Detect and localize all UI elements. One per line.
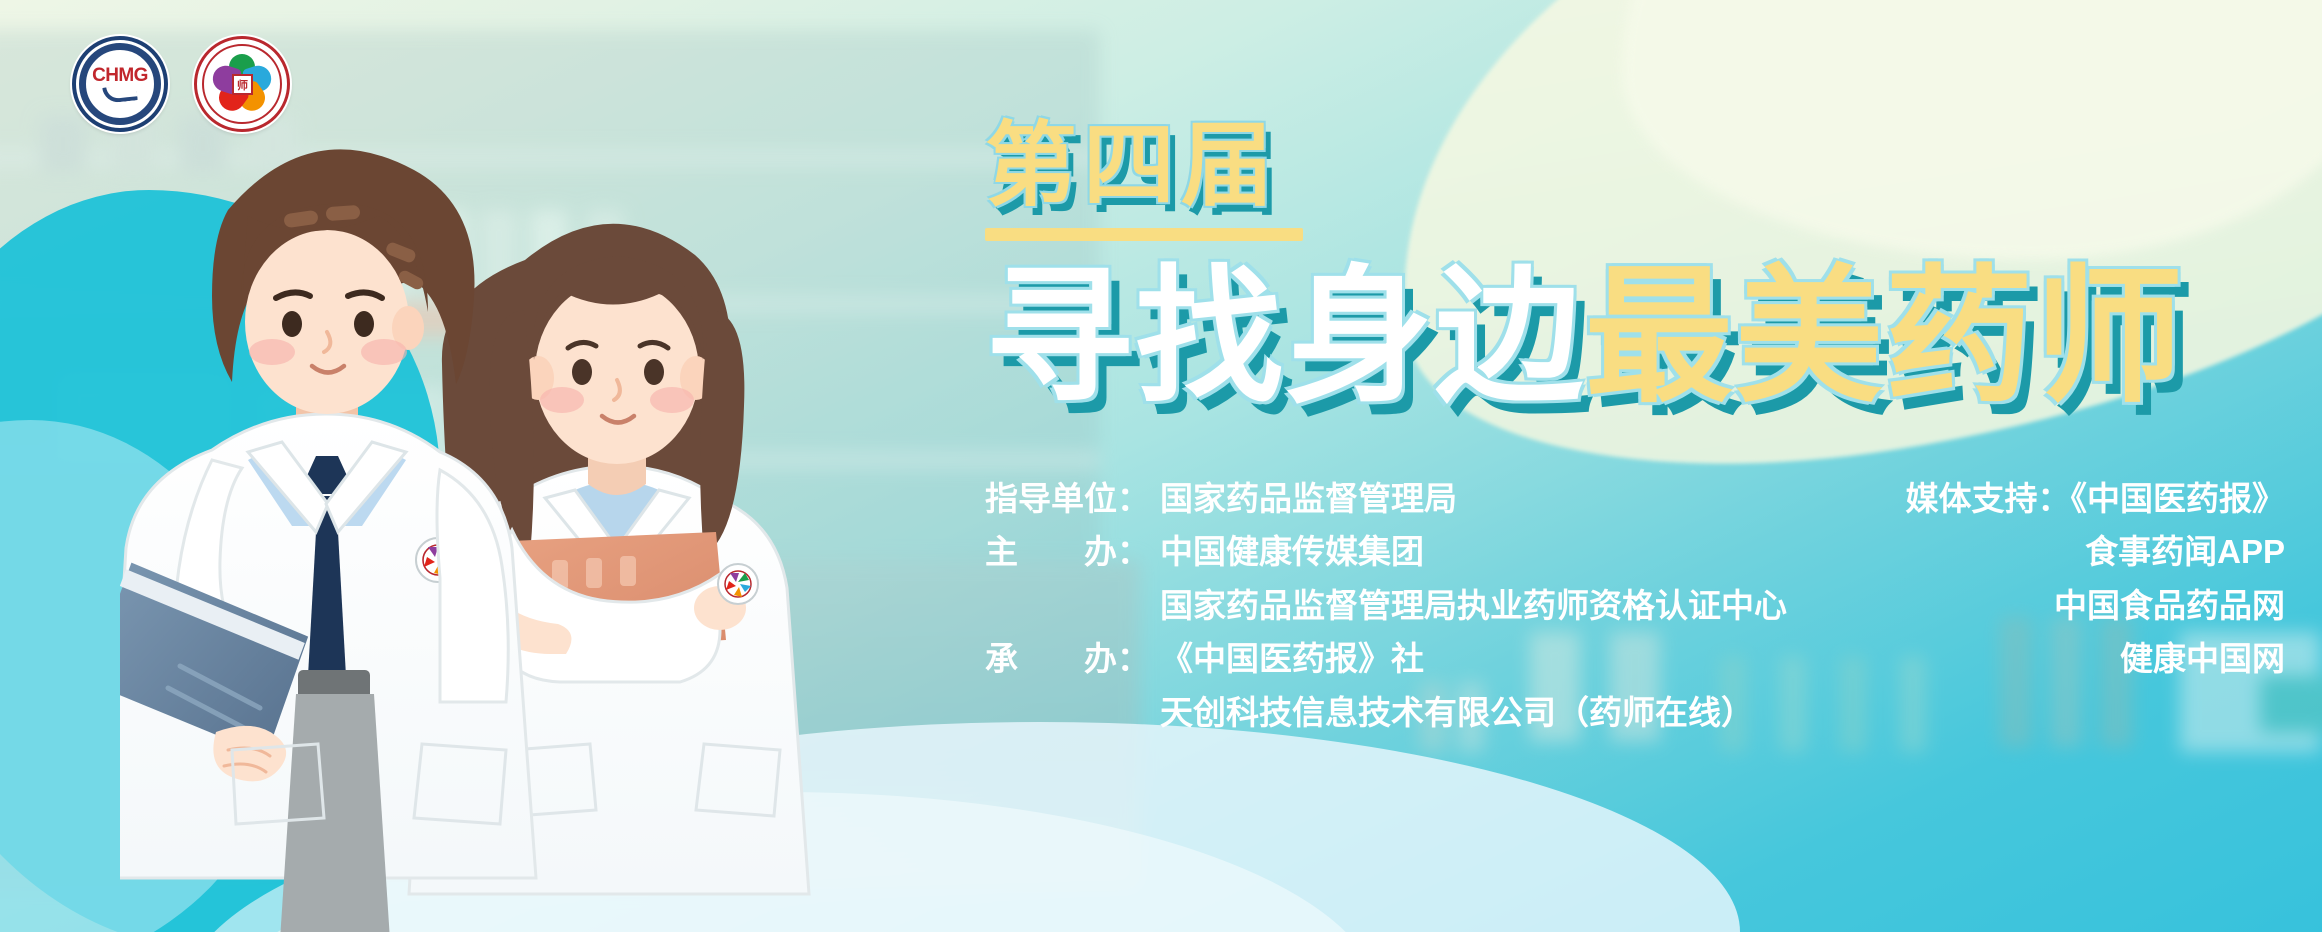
china-licensed-pharmacist-logo: 师 [194,36,290,132]
credit-label: 主 办： [985,525,1160,578]
credit-value: 中国健康传媒集团 [1160,525,1424,578]
credit-value: 天创科技信息技术有限公司（药师在线） [1160,686,1754,739]
credit-value: 健康中国网 [2120,640,2285,677]
credit-line: 承 办： 《中国医药报》社 [985,632,1787,685]
male-pharmacist [120,149,536,932]
chmg-logo: CHMG [72,36,168,132]
credit-value: 国家药品监督管理局执业药师资格认证中心 [1160,579,1787,632]
credit-line: 国家药品监督管理局执业药师资格认证中心 [985,579,1787,632]
headline-white-part: 寻找身边 [985,255,1585,420]
credit-value: 《中国医药报》 [2071,480,2286,517]
credit-label: 承 办： [985,632,1160,685]
chmg-logo-swoosh-icon [102,84,137,103]
credit-label: 媒体支持： [1906,480,2071,517]
credit-line: 媒体支持：《中国医药报》 [1906,472,2286,525]
credit-value: 国家药品监督管理局 [1160,472,1457,525]
logo-row: CHMG 师 [72,36,290,132]
pharmacist-logo-center-char: 师 [232,74,253,95]
credits-left-column: 指导单位： 国家药品监督管理局 主 办： 中国健康传媒集团 国家药品监督管理局执… [985,472,1787,739]
promotional-banner: CHMG 师 [0,0,2322,932]
main-headline: 寻找身边最美药师 [985,263,2275,414]
credits-right-column: 媒体支持：《中国医药报》 食事药闻APP 中国食品药品网 健康中国网 [1906,472,2286,686]
credit-line: 主 办： 中国健康传媒集团 [985,525,1787,578]
credit-line: 健康中国网 [1906,632,2286,685]
credit-value: 中国食品药品网 [2054,587,2285,624]
credit-line: 指导单位： 国家药品监督管理局 [985,472,1787,525]
chmg-logo-wordmark: CHMG [92,66,148,85]
edition-kicker: 第四届 [985,120,2275,212]
credit-value: 《中国医药报》社 [1160,632,1424,685]
credit-label: 指导单位： [985,472,1160,525]
pharmacist-illustration [120,60,980,932]
credit-line: 食事药闻APP [1906,525,2286,578]
credit-line: 天创科技信息技术有限公司（药师在线） [985,686,1787,739]
banner-text-content: 第四届 寻找身边最美药师 指导单位： 国家药品监督管理局 主 办： 中国健康传媒… [985,120,2275,739]
kicker-underline [985,228,1303,241]
headline-yellow-part: 最美药师 [1585,255,2185,420]
credits-block: 指导单位： 国家药品监督管理局 主 办： 中国健康传媒集团 国家药品监督管理局执… [985,472,2285,739]
credit-value: 食事药闻APP [2085,533,2285,570]
credit-line: 中国食品药品网 [1906,579,2286,632]
kicker-block: 第四届 [985,120,2275,241]
